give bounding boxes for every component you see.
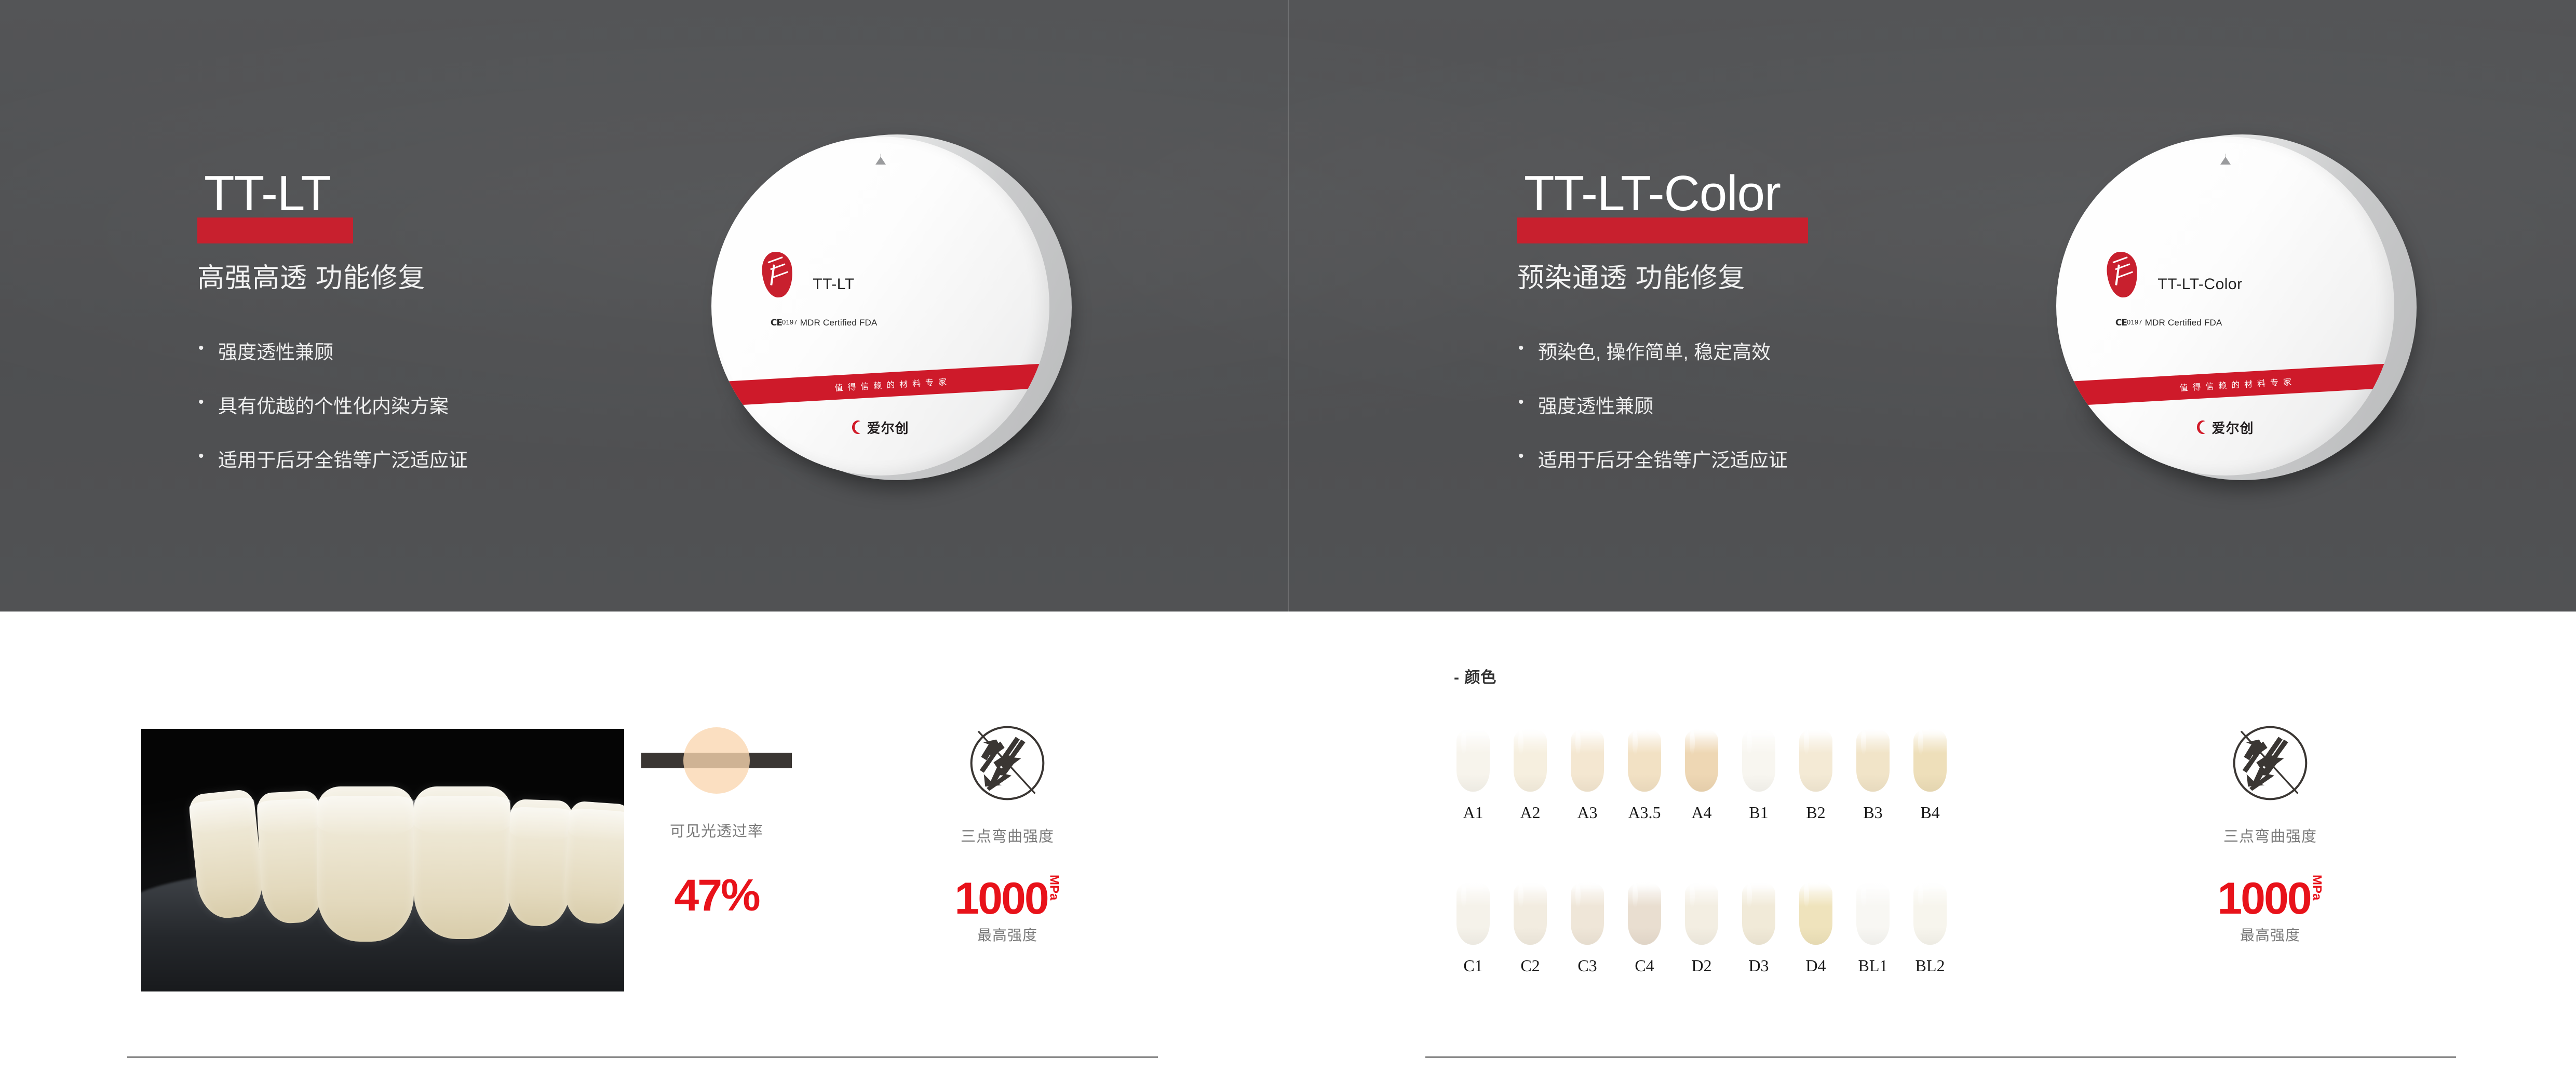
list-item: 强度透性兼顾 <box>1518 397 1788 416</box>
feature-list-tt-lt-color: 预染色, 操作简单, 稳定高效 强度透性兼顾 适用于后牙全锆等广泛适应证 <box>1518 343 1788 505</box>
stat-caption: 可见光透过率 <box>639 819 794 841</box>
ce-number: 0197 <box>782 318 798 326</box>
page-title-tt-lt: TT-LT <box>197 169 331 219</box>
shade-swatch: B1 <box>1730 729 1787 822</box>
tooth-swatch-icon <box>1571 882 1604 945</box>
product-panel-tt-lt-color: TT-LT-Color 预染通透 功能修复 预染色, 操作简单, 稳定高效 强度… <box>1289 0 2576 1087</box>
color-section-label: - 颜色 <box>1454 664 1496 687</box>
list-item: 具有优越的个性化内染方案 <box>198 397 468 416</box>
shade-swatch: B3 <box>1844 729 1901 822</box>
disc-notch-icon <box>2220 157 2231 165</box>
disc-slogan-strip: 值得信赖的材料专家 <box>711 361 1049 407</box>
stat-unit: MPa <box>1048 875 1060 900</box>
disc-certification-text: CE0197 MDR Certified FDA <box>2115 318 2222 328</box>
tooth-swatch-icon <box>1856 729 1890 792</box>
shade-swatch: B4 <box>1901 729 1959 822</box>
shade-swatch: A2 <box>1502 729 1559 822</box>
disc-slogan-text: 值得信赖的材料专家 <box>2174 374 2296 393</box>
shade-swatch: B2 <box>1787 729 1844 822</box>
tooth-swatch-icon <box>1913 729 1947 792</box>
shade-swatch: C3 <box>1559 882 1616 975</box>
shade-swatch: C4 <box>1616 882 1673 975</box>
list-item: 强度透性兼顾 <box>198 343 468 362</box>
zirconia-disc-tt-lt-color: TT-LT-Color CE0197 MDR Certified FDA 值得信… <box>2056 132 2420 485</box>
brand-crescent-icon <box>2196 420 2208 434</box>
shade-swatch: D3 <box>1730 882 1787 975</box>
shade-label: A4 <box>1673 803 1730 822</box>
tooth-swatch-icon <box>1571 729 1604 792</box>
shade-label: A3 <box>1559 803 1616 822</box>
stat-flexural-strength: 三点弯曲强度 1000MPa 最高强度 <box>929 722 1085 945</box>
stat-sublabel: 最高强度 <box>2192 924 2348 945</box>
disc-brand-logo: 爱尔创 <box>2196 418 2254 437</box>
shade-row-lower: C1C2C3C4D2D3D4BL1BL2 <box>1445 882 1959 975</box>
tooth-swatch-icon <box>1685 729 1718 792</box>
stat-value: 1000 <box>954 874 1047 923</box>
title-underline-bar <box>197 218 353 243</box>
disc-brand-logo: 爱尔创 <box>852 418 909 437</box>
shade-label: B1 <box>1730 803 1787 822</box>
tooth-swatch-icon <box>1628 882 1661 945</box>
disc-face: TT-LT-Color CE0197 MDR Certified FDA 值得信… <box>2056 137 2394 475</box>
flexural-strength-icon <box>966 722 1049 805</box>
bottom-divider-right <box>1425 1056 2456 1058</box>
tooth-swatch-icon <box>1799 729 1832 792</box>
stat-translucency: 可见光透过率 47% <box>639 722 794 918</box>
title-text: TT-LT-Color <box>1517 169 1781 219</box>
shade-swatch: A3.5 <box>1616 729 1673 822</box>
shade-label: BL2 <box>1901 956 1959 975</box>
photo-tooth <box>317 786 414 942</box>
tooth-swatch-icon <box>1742 729 1775 792</box>
shade-swatch: BL1 <box>1844 882 1901 975</box>
list-item: 适用于后牙全锆等广泛适应证 <box>1518 451 1788 470</box>
stat-caption: 三点弯曲强度 <box>929 824 1085 846</box>
title-underline-bar <box>1517 218 1808 243</box>
disc-product-name: TT-LT <box>813 276 854 293</box>
shade-swatch: D2 <box>1673 882 1730 975</box>
shade-label: B4 <box>1901 803 1959 822</box>
disc-certification-text: CE0197 MDR Certified FDA <box>771 318 878 328</box>
shade-label: B3 <box>1844 803 1901 822</box>
shade-swatch: A1 <box>1445 729 1502 822</box>
tooth-swatch-icon <box>1856 882 1890 945</box>
photo-tooth <box>562 800 624 926</box>
translucency-circle <box>683 727 750 794</box>
tooth-swatch-icon <box>1514 882 1547 945</box>
photo-tooth <box>414 786 510 939</box>
shade-label: A3.5 <box>1616 803 1673 822</box>
shade-label: BL1 <box>1844 956 1901 975</box>
shade-label: C4 <box>1616 956 1673 975</box>
page-title-tt-lt-color: TT-LT-Color <box>1517 169 1781 219</box>
tooth-swatch-icon <box>1628 729 1661 792</box>
shade-label: C3 <box>1559 956 1616 975</box>
brand-seal-icon <box>761 251 794 298</box>
subtitle-tt-lt-color: 预染通透 功能修复 <box>1517 265 1745 292</box>
shade-swatch: C2 <box>1502 882 1559 975</box>
brand-seal-icon <box>2106 251 2139 298</box>
stat-caption: 三点弯曲强度 <box>2192 824 2348 846</box>
tooth-swatch-icon <box>1456 729 1490 792</box>
flexural-strength-icon <box>2229 722 2312 805</box>
product-panel-tt-lt: TT-LT 高强高透 功能修复 强度透性兼顾 具有优越的个性化内染方案 适用于后… <box>0 0 1288 1087</box>
stat-unit: MPa <box>2311 875 2323 900</box>
subtitle-tt-lt: 高强高透 功能修复 <box>197 265 425 292</box>
shade-swatch: D4 <box>1787 882 1844 975</box>
photo-tooth <box>256 790 326 925</box>
brand-name: 爱尔创 <box>2211 418 2254 437</box>
stat-value: 47% <box>639 873 794 918</box>
shade-swatch: BL2 <box>1901 882 1959 975</box>
list-item: 适用于后牙全锆等广泛适应证 <box>198 451 468 470</box>
shade-label: C1 <box>1445 956 1502 975</box>
disc-slogan-strip: 值得信赖的材料专家 <box>2056 361 2394 407</box>
stat-value: 1000 <box>2217 874 2310 923</box>
dental-restoration-photo <box>141 729 624 991</box>
shade-row-upper: A1A2A3A3.5A4B1B2B3B4 <box>1445 729 1959 822</box>
ce-number: 0197 <box>2127 318 2142 326</box>
disc-notch-icon <box>875 157 886 165</box>
tooth-swatch-icon <box>1514 729 1547 792</box>
tooth-swatch-icon <box>1799 882 1832 945</box>
tooth-swatch-icon <box>1742 882 1775 945</box>
shade-label: B2 <box>1787 803 1844 822</box>
cert-text: MDR Certified FDA <box>2145 318 2222 328</box>
disc-product-name: TT-LT-Color <box>2157 276 2242 293</box>
brand-crescent-icon <box>852 420 863 434</box>
stat-sublabel: 最高强度 <box>929 924 1085 945</box>
disc-face: TT-LT CE0197 MDR Certified FDA 值得信赖的材料专家… <box>711 137 1049 475</box>
translucency-icon <box>641 722 792 799</box>
list-item: 预染色, 操作简单, 稳定高效 <box>1518 343 1788 362</box>
shade-label: C2 <box>1502 956 1559 975</box>
ce-mark-icon: CE <box>771 318 782 328</box>
feature-list-tt-lt: 强度透性兼顾 具有优越的个性化内染方案 适用于后牙全锆等广泛适应证 <box>198 343 468 505</box>
photo-tooth <box>506 799 573 927</box>
shade-label: A1 <box>1445 803 1502 822</box>
tooth-swatch-icon <box>1913 882 1947 945</box>
stat-flexural-strength: 三点弯曲强度 1000MPa 最高强度 <box>2192 722 2348 945</box>
zirconia-disc-tt-lt: TT-LT CE0197 MDR Certified FDA 值得信赖的材料专家… <box>711 132 1075 485</box>
shade-label: A2 <box>1502 803 1559 822</box>
shade-swatch: A4 <box>1673 729 1730 822</box>
tooth-swatch-icon <box>1456 882 1490 945</box>
shade-swatch: A3 <box>1559 729 1616 822</box>
ce-mark-icon: CE <box>2115 318 2127 328</box>
bottom-divider-left <box>127 1056 1158 1058</box>
shade-label: D3 <box>1730 956 1787 975</box>
tooth-swatch-icon <box>1685 882 1718 945</box>
shade-label: D2 <box>1673 956 1730 975</box>
cert-text: MDR Certified FDA <box>800 318 878 328</box>
brand-name: 爱尔创 <box>867 418 909 437</box>
shade-label: D4 <box>1787 956 1844 975</box>
shade-swatch: C1 <box>1445 882 1502 975</box>
disc-slogan-text: 值得信赖的材料专家 <box>829 374 951 393</box>
title-text: TT-LT <box>197 169 331 219</box>
